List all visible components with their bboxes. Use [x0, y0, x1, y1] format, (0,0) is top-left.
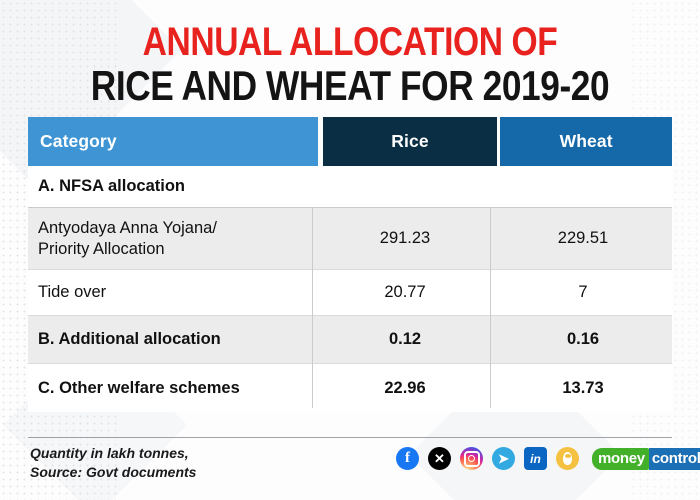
- telegram-icon[interactable]: ➤: [492, 447, 515, 470]
- column-divider-2: [490, 207, 491, 408]
- table-row: C. Other welfare schemes 22.96 13.73: [28, 364, 672, 412]
- facebook-icon[interactable]: f: [396, 447, 419, 470]
- title-line-1: ANNUAL ALLOCATION OF: [56, 22, 644, 64]
- table-row: Tide over 20.77 7: [28, 270, 672, 315]
- footer-note-line-2: Source: Govt documents: [30, 463, 196, 482]
- linkedin-icon[interactable]: in: [524, 447, 547, 470]
- cell-wheat: [494, 166, 672, 207]
- instagram-icon[interactable]: [460, 447, 483, 470]
- cell-wheat: 13.73: [494, 364, 672, 412]
- social-links: f ✕ ➤ in moneycontrol: [396, 447, 700, 470]
- cell-wheat: 7: [494, 270, 672, 315]
- x-twitter-icon[interactable]: ✕: [428, 447, 451, 470]
- cell-rice: 20.77: [316, 270, 494, 315]
- cell-wheat: 0.16: [494, 316, 672, 363]
- logo-money-text: money: [592, 448, 649, 470]
- cell-rice: 291.23: [316, 208, 494, 269]
- table-row: B. Additional allocation 0.12 0.16: [28, 316, 672, 363]
- cell-rice: 0.12: [316, 316, 494, 363]
- cell-category: B. Additional allocation: [28, 316, 316, 363]
- moneycontrol-app-icon[interactable]: [556, 447, 579, 470]
- column-header-category: Category: [28, 117, 318, 166]
- page-title: ANNUAL ALLOCATION OF RICE AND WHEAT FOR …: [0, 22, 700, 107]
- footer-note: Quantity in lakh tonnes, Source: Govt do…: [30, 444, 196, 482]
- column-divider-1: [312, 207, 313, 408]
- allocation-table: Category Rice Wheat A. NFSA allocation A…: [28, 117, 672, 412]
- table-header-row: Category Rice Wheat: [28, 117, 672, 166]
- cell-rice: 22.96: [316, 364, 494, 412]
- table-row: A. NFSA allocation: [28, 166, 672, 207]
- column-header-wheat: Wheat: [500, 117, 672, 166]
- title-line-2: RICE AND WHEAT FOR 2019-20: [56, 64, 644, 108]
- footer-divider: [28, 437, 672, 438]
- column-header-rice: Rice: [323, 117, 498, 166]
- cell-category: C. Other welfare schemes: [28, 364, 316, 412]
- logo-control-text: control: [649, 448, 700, 470]
- cell-wheat: 229.51: [494, 208, 672, 269]
- cell-rice: [316, 166, 494, 207]
- cell-category: Antyodaya Anna Yojana/ Priority Allocati…: [28, 208, 316, 269]
- cell-category: A. NFSA allocation: [28, 166, 316, 207]
- moneycontrol-logo[interactable]: moneycontrol: [592, 448, 700, 469]
- cell-category: Tide over: [28, 270, 316, 315]
- footer-note-line-1: Quantity in lakh tonnes,: [30, 444, 196, 463]
- table-row: Antyodaya Anna Yojana/ Priority Allocati…: [28, 208, 672, 269]
